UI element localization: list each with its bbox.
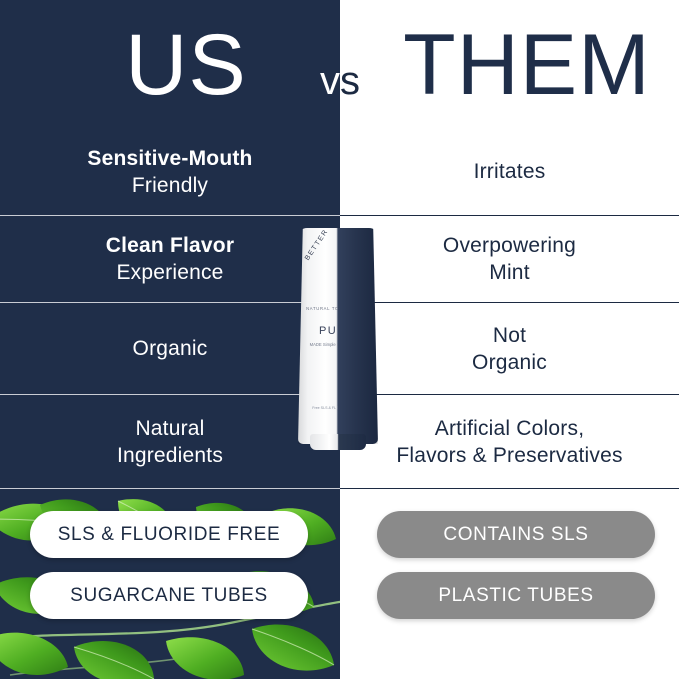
- vs-left-half: vs: [299, 58, 340, 104]
- tube-footer-text: Free SLS & FL 3 oz: [300, 406, 338, 411]
- badge-us-2: SUGARCANE TUBES: [30, 572, 308, 619]
- vs-text-light: vs: [299, 58, 340, 104]
- toothpaste-tube-image: BETTER & BE NATURAL TOOTH PU MADE Simple…: [298, 228, 378, 444]
- row-3-them-cell: Not Organic: [340, 303, 679, 394]
- badges-section: SLS & FLUORIDE FREE SUGARCANE TUBES CONT…: [0, 489, 679, 679]
- row-1-them-primary: Irritates: [474, 158, 546, 185]
- header: US THEM vs vs: [0, 0, 679, 128]
- row-2-them-secondary: Mint: [489, 259, 529, 286]
- vs-right-half: vs: [340, 58, 381, 104]
- row-1-us-cell: Sensitive-Mouth Friendly: [0, 128, 340, 215]
- row-1-us-primary: Sensitive-Mouth: [87, 145, 252, 172]
- badges-them-panel: CONTAINS SLS PLASTIC TUBES: [340, 489, 679, 679]
- row-4-us-cell: Natural Ingredients: [0, 395, 340, 488]
- tube-title-text: PU: [300, 325, 338, 337]
- row-3-them-primary: Not: [493, 322, 526, 349]
- row-2-us-primary: Clean Flavor: [106, 232, 234, 259]
- row-2-us-cell: Clean Flavor Experience: [0, 216, 340, 302]
- comparison-row: Sensitive-Mouth Friendly Irritates: [0, 128, 679, 215]
- row-4-them-cell: Artificial Colors, Flavors & Preservativ…: [340, 395, 679, 488]
- row-4-us-secondary: Ingredients: [117, 442, 223, 469]
- row-3-them-secondary: Organic: [472, 349, 547, 376]
- header-them-title: THEM: [382, 10, 672, 120]
- row-2-them-cell: Overpowering Mint: [340, 216, 679, 302]
- row-2-them-primary: Overpowering: [443, 232, 576, 259]
- badge-us-1: SLS & FLUORIDE FREE: [30, 511, 308, 558]
- tube-description-text: MADE Simple Ingre: [300, 342, 338, 348]
- badges-us-panel: SLS & FLUORIDE FREE SUGARCANE TUBES: [0, 489, 340, 679]
- badge-them-1: CONTAINS SLS: [377, 511, 655, 558]
- row-3-us-cell: Organic: [0, 303, 340, 394]
- badge-them-2: PLASTIC TUBES: [377, 572, 655, 619]
- tube-label: BETTER & BE NATURAL TOOTH PU MADE Simple…: [298, 228, 338, 444]
- row-1-them-cell: Irritates: [340, 128, 679, 215]
- header-vs-label: vs vs: [299, 58, 381, 104]
- comparison-infographic: US THEM vs vs Sensitive-Mouth Friendly I…: [0, 0, 679, 679]
- tube-subtitle-text: NATURAL TOOTH: [300, 306, 338, 312]
- row-4-us-primary: Natural: [135, 415, 204, 442]
- vs-text-dark: vs: [340, 58, 381, 104]
- header-us-title: US: [96, 10, 276, 120]
- row-4-them-primary: Artificial Colors,: [435, 415, 584, 442]
- tube-brand-text: BETTER & BE: [304, 228, 338, 262]
- row-3-us-primary: Organic: [133, 335, 208, 362]
- row-4-them-secondary: Flavors & Preservatives: [396, 442, 622, 469]
- row-2-us-secondary: Experience: [116, 259, 223, 286]
- row-1-us-secondary: Friendly: [132, 172, 208, 199]
